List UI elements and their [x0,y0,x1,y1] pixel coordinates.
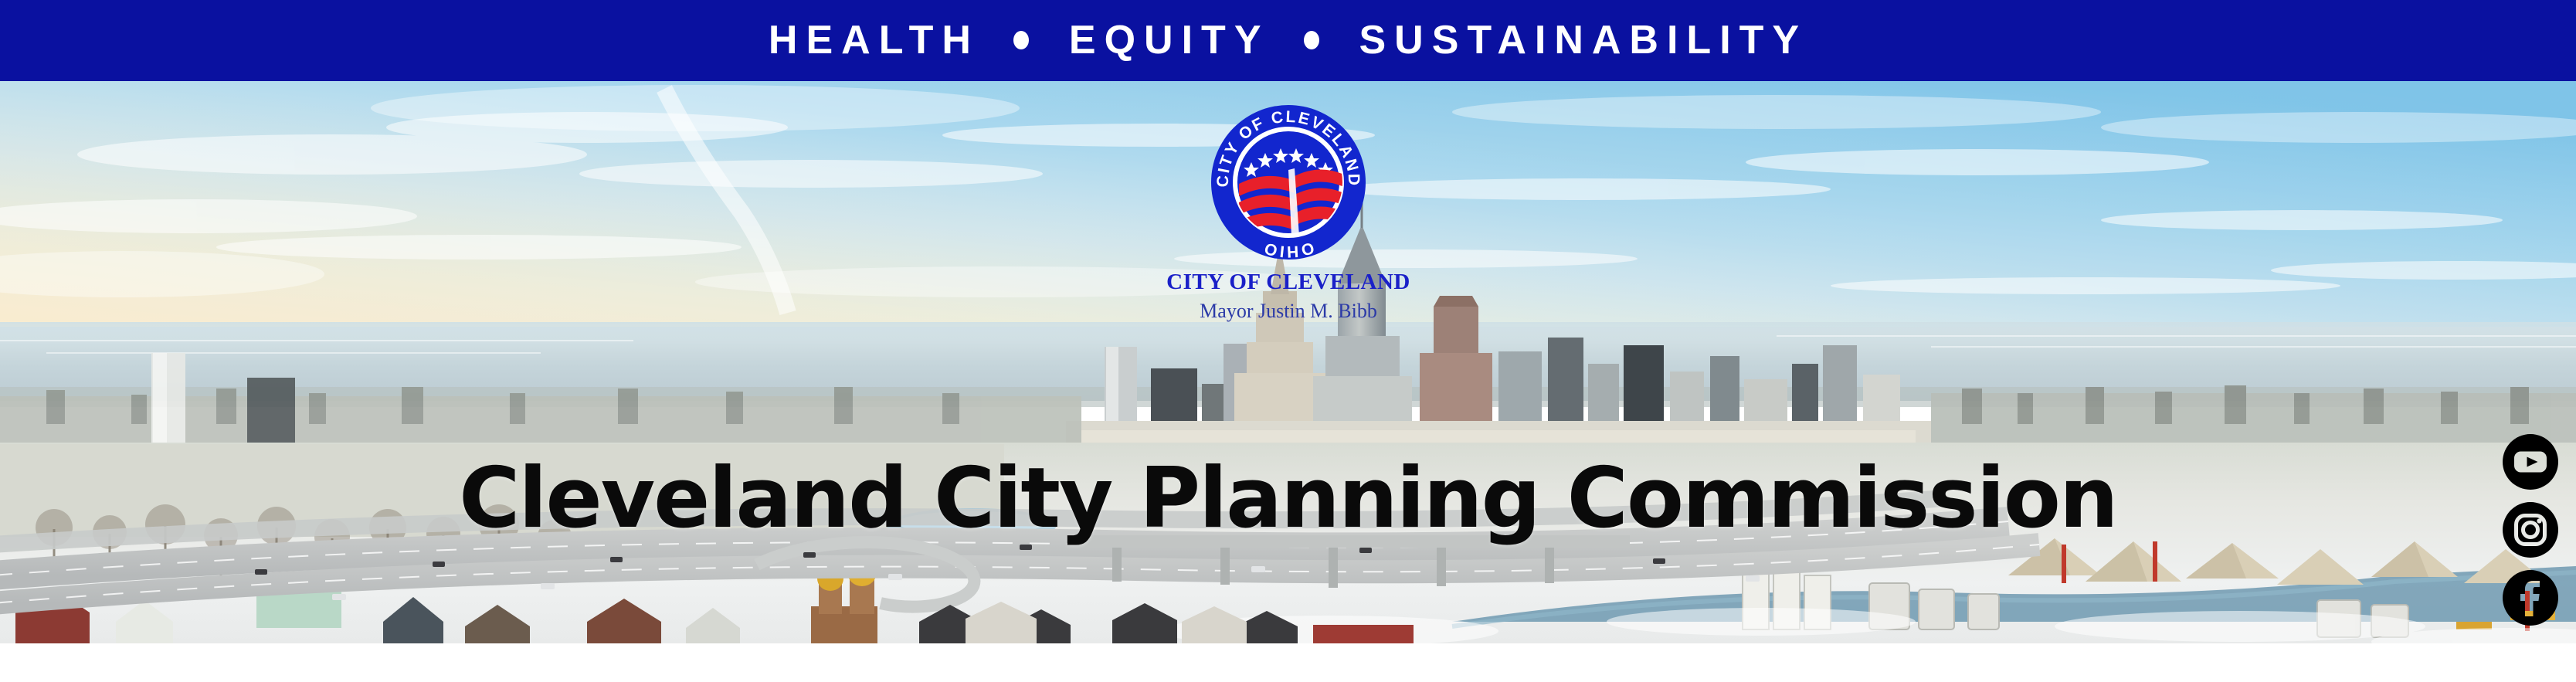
organization-name: CITY OF CLEVELAND [1088,270,1489,295]
bottom-white-strip [0,643,2576,682]
tagline-word-sustainability: SUSTAINABILITY [1359,20,1808,60]
city-logo-block[interactable]: CITY OF CLEVELAND OHIO CITY OF CLEVELAND… [1088,99,1489,322]
page-title: Cleveland City Planning Commission [0,457,2576,541]
tagline-banner: HEALTH EQUITY SUSTAINABILITY [0,0,2576,81]
tagline-word-health: HEALTH [769,20,979,60]
tagline-word-equity: EQUITY [1069,20,1270,60]
city-seal-icon[interactable]: CITY OF CLEVELAND OHIO [1205,99,1372,266]
instagram-icon[interactable] [2503,502,2558,558]
youtube-icon[interactable] [2503,434,2558,490]
bullet-dot-icon [1304,31,1319,49]
mayor-name: Mayor Justin M. Bibb [1088,300,1489,323]
social-links [2503,434,2560,626]
bullet-dot-icon [1013,31,1029,49]
city-of-cleveland-ohio-seal: CITY OF CLEVELAND OHIO [1205,99,1372,266]
facebook-icon[interactable] [2503,570,2558,626]
